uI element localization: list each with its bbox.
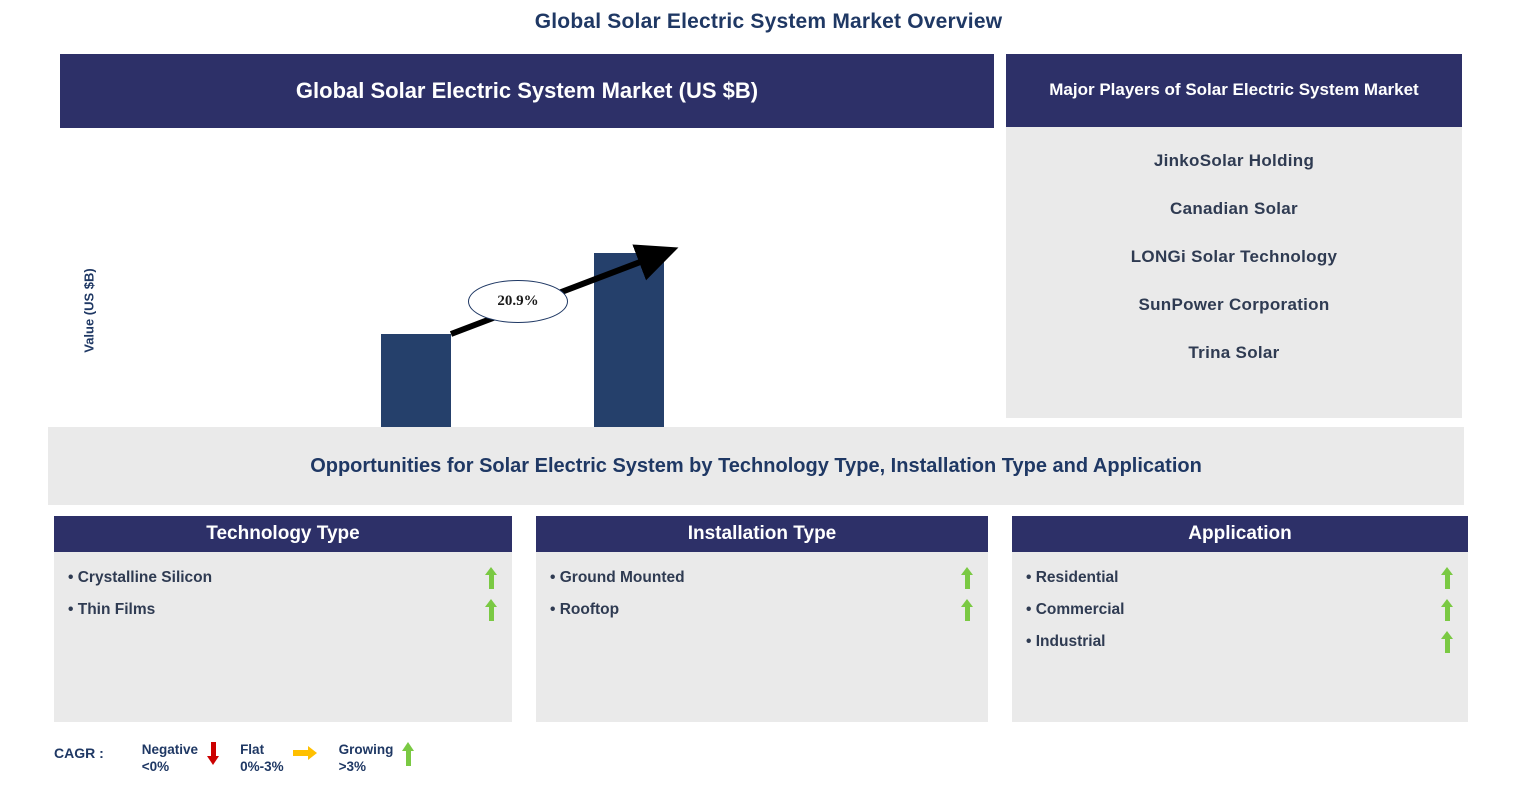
segment-header: Installation Type [536,516,988,552]
list-item: • Rooftop [550,594,974,626]
cagr-legend: CAGR : Negative <0% Flat 0%-3% Growing >… [54,742,435,776]
legend-item-negative: Negative <0% [142,742,226,776]
arrow-right-yellow-icon [293,742,319,768]
segment-item-label: • Residential [1026,569,1118,587]
growth-arrow-icon [60,128,994,418]
list-item: JinkoSolar Holding [1006,151,1462,171]
list-item: • Thin Films [68,594,498,626]
list-item: • Crystalline Silicon [68,562,498,594]
legend-item-growing: Growing >3% [339,742,422,776]
segment-item-label: • Crystalline Silicon [68,569,212,587]
arrow-up-green-icon [485,567,498,589]
arrow-up-green-icon [402,742,415,768]
legend-flat-text: Flat 0%-3% [240,742,284,776]
segment-item-label: • Commercial [1026,601,1124,619]
cagr-callout: 20.9% [468,280,568,323]
segment-panel-technology-type: Technology Type • Crystalline Silicon • … [54,516,512,722]
list-item: Trina Solar [1006,343,1462,363]
segment-header: Technology Type [54,516,512,552]
major-players-card: Major Players of Solar Electric System M… [1006,54,1462,418]
list-item: SunPower Corporation [1006,295,1462,315]
segment-item-label: • Ground Mounted [550,569,685,587]
major-players-header: Major Players of Solar Electric System M… [1006,54,1462,127]
segment-body: • Crystalline Silicon • Thin Films [54,552,512,722]
list-item: • Industrial [1026,626,1454,658]
page-title: Global Solar Electric System Market Over… [0,10,1537,34]
legend-flat-name: Flat [240,742,284,759]
chart-plot-area: 20.9% 2025 2031 [60,128,994,418]
legend-growing-range: >3% [339,759,394,776]
legend-growing-name: Growing [339,742,394,759]
segment-body: • Ground Mounted • Rooftop [536,552,988,722]
chart-header: Global Solar Electric System Market (US … [60,54,994,128]
segment-item-label: • Industrial [1026,633,1106,651]
chart-body: Value (US $B) 20.9% 2025 2031 Source : L… [60,128,994,418]
opportunities-band-text: Opportunities for Solar Electric System … [310,455,1202,478]
opportunities-band: Opportunities for Solar Electric System … [48,427,1464,505]
arrow-down-red-icon [207,742,220,768]
segment-item-label: • Thin Films [68,601,155,619]
arrow-up-green-icon [1441,567,1454,589]
list-item: • Ground Mounted [550,562,974,594]
arrow-up-green-icon [485,599,498,621]
legend-negative-range: <0% [142,759,198,776]
cagr-legend-title: CAGR : [54,742,104,761]
segment-header: Application [1012,516,1468,552]
segment-panel-installation-type: Installation Type • Ground Mounted • Roo… [536,516,988,722]
legend-negative-name: Negative [142,742,198,759]
arrow-up-green-icon [1441,631,1454,653]
arrow-up-green-icon [1441,599,1454,621]
major-players-list: JinkoSolar Holding Canadian Solar LONGi … [1006,127,1462,418]
legend-flat-range: 0%-3% [240,759,284,776]
list-item: • Residential [1026,562,1454,594]
arrow-up-green-icon [961,599,974,621]
segment-item-label: • Rooftop [550,601,619,619]
segment-body: • Residential • Commercial • Industrial [1012,552,1468,722]
list-item: LONGi Solar Technology [1006,247,1462,267]
legend-negative-text: Negative <0% [142,742,198,776]
legend-item-flat: Flat 0%-3% [240,742,325,776]
arrow-up-green-icon [961,567,974,589]
segment-panel-application: Application • Residential • Commercial •… [1012,516,1468,722]
list-item: • Commercial [1026,594,1454,626]
legend-growing-text: Growing >3% [339,742,394,776]
market-chart-card: Global Solar Electric System Market (US … [60,54,994,418]
list-item: Canadian Solar [1006,199,1462,219]
